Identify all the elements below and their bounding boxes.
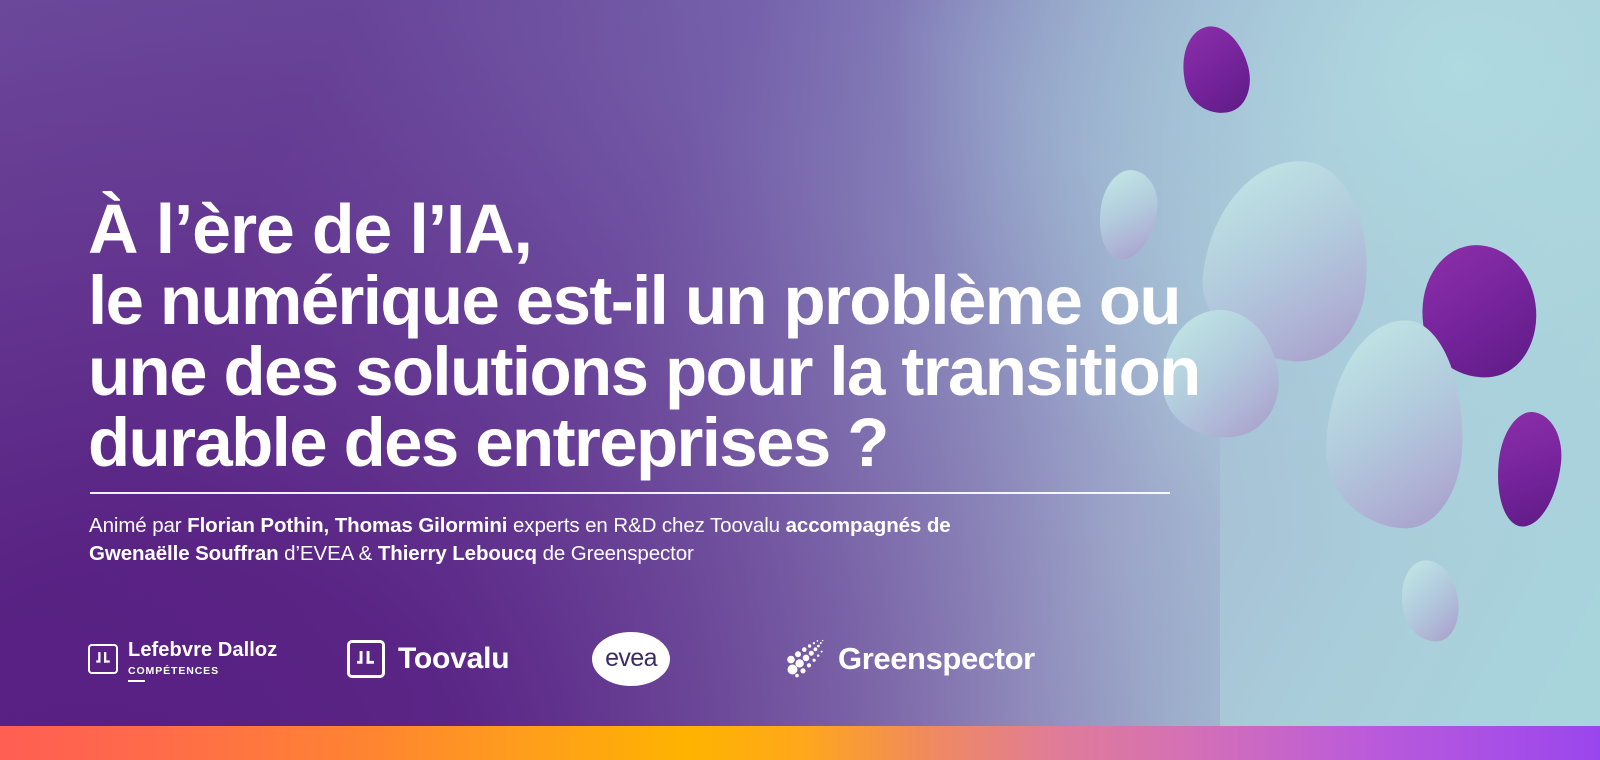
blob-bottom-small	[1395, 556, 1464, 646]
jl-glyph-icon	[350, 643, 382, 675]
jl-square-icon	[347, 640, 385, 678]
logo-lefebvre-dalloz-name: Lefebvre Dalloz	[128, 639, 277, 661]
logo-subtitle-text: COMPÉTENCES	[128, 665, 219, 677]
jl-square-icon	[88, 644, 118, 674]
blob-right-slim	[1491, 409, 1567, 531]
divider	[90, 492, 1170, 494]
logo-subtitle-underline	[128, 680, 145, 682]
blob-top-purple	[1173, 19, 1257, 120]
halftone-leaf-glyph-icon	[782, 636, 828, 682]
credits-line-2: Gwenaëlle Souffran d’EVEA & Thierry Lebo…	[89, 540, 1209, 568]
bottom-gradient-bar	[0, 726, 1600, 760]
webinar-title-slide: À l’ère de l’IA, le numérique est-il un …	[0, 0, 1600, 760]
blob-big-pear	[1195, 152, 1378, 368]
evea-ellipse-badge-icon: evea	[592, 632, 670, 686]
credits-text: de Greenspector	[537, 542, 694, 565]
logo-toovalu: Toovalu	[347, 640, 592, 678]
speaker-credits: Animé par Florian Pothin, Thomas Gilormi…	[89, 512, 1209, 568]
title-line-1: À l’ère de l’IA,	[88, 194, 1198, 265]
credits-emphasis: Florian Pothin, Thomas Gilormini	[187, 514, 507, 537]
logo-lefebvre-dalloz-subtitle: COMPÉTENCES	[128, 665, 219, 677]
title-line-2: le numérique est-il un problème ou	[88, 265, 1198, 336]
credits-line-1: Animé par Florian Pothin, Thomas Gilormi…	[89, 512, 1209, 540]
title-line-4: durable des entreprises ?	[88, 407, 1198, 478]
credits-text: Animé par	[89, 514, 187, 537]
credits-emphasis: accompagnés de	[786, 514, 951, 537]
credits-emphasis: Gwenaëlle Souffran	[89, 542, 279, 565]
jl-glyph-icon	[90, 646, 116, 672]
logo-toovalu-name: Toovalu	[398, 642, 509, 676]
logo-evea: evea	[592, 632, 782, 686]
greenspector-halftone-leaf-icon	[782, 636, 828, 682]
credits-text: experts en R&D chez Toovalu	[507, 514, 785, 537]
credits-text: d’EVEA &	[279, 542, 378, 565]
logo-lefebvre-dalloz-text: Lefebvre Dalloz COMPÉTENCES	[128, 640, 338, 679]
blob-drop-center	[1323, 318, 1466, 531]
title-line-3: une des solutions pour la transition	[88, 336, 1198, 407]
logo-evea-name: evea	[605, 646, 657, 671]
logo-greenspector-name: Greenspector	[838, 641, 1035, 677]
logo-greenspector: Greenspector	[782, 636, 1035, 682]
page-title: À l’ère de l’IA, le numérique est-il un …	[88, 194, 1198, 478]
credits-emphasis: Thierry Leboucq	[378, 542, 537, 565]
logo-lefebvre-dalloz: Lefebvre Dalloz COMPÉTENCES	[88, 640, 338, 679]
partner-logo-row: Lefebvre Dalloz COMPÉTENCES Toovalu	[88, 628, 1035, 690]
blob-mid-right-purple	[1413, 238, 1544, 386]
